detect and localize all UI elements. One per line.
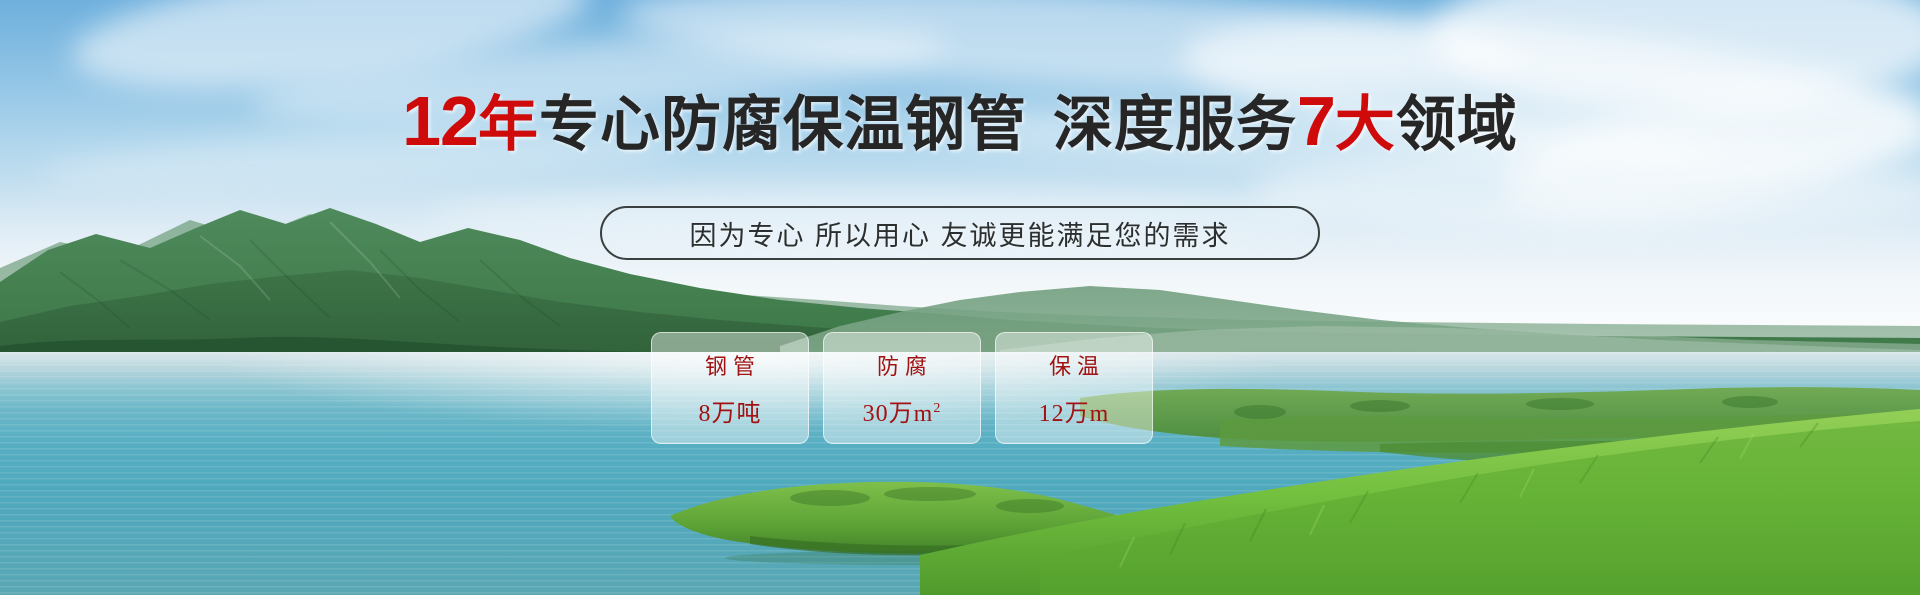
subtitle-text: 因为专心 所以用心 友诚更能满足您的需求 bbox=[689, 214, 1230, 253]
hero-banner: 12年专心防腐保温钢管深度服务7大领域 因为专心 所以用心 友诚更能满足您的需求… bbox=[0, 0, 1920, 595]
headline-part-five: 领域 bbox=[1396, 91, 1518, 158]
stat-card-list: 钢管 8万吨 防腐 30万m2 保温 12万m bbox=[651, 332, 1153, 444]
stat-card-value: 12万m bbox=[1039, 393, 1110, 428]
page-title: 12年专心防腐保温钢管深度服务7大领域 bbox=[0, 86, 1920, 156]
banner-content: 12年专心防腐保温钢管深度服务7大领域 因为专心 所以用心 友诚更能满足您的需求… bbox=[0, 0, 1920, 595]
stat-card-value-text: 8万吨 bbox=[699, 401, 762, 427]
stat-card-value-text: 30万m bbox=[863, 401, 934, 427]
headline-years-number: 12 bbox=[402, 82, 478, 160]
stat-card-title: 钢管 bbox=[699, 349, 761, 381]
headline-part-two: 专心防腐保温钢管 bbox=[539, 91, 1027, 158]
stat-card-steel-pipe[interactable]: 钢管 8万吨 bbox=[651, 332, 809, 444]
stat-card-value-text: 12万m bbox=[1039, 401, 1110, 427]
subtitle-pill: 因为专心 所以用心 友诚更能满足您的需求 bbox=[600, 206, 1320, 260]
stat-card-anticorrosion[interactable]: 防腐 30万m2 bbox=[823, 332, 981, 444]
headline-fields-unit: 大 bbox=[1335, 91, 1396, 158]
stat-card-value: 30万m2 bbox=[863, 393, 942, 428]
headline-part-three: 深度服务 bbox=[1053, 91, 1297, 158]
stat-card-title: 防腐 bbox=[871, 349, 933, 381]
stat-card-title: 保温 bbox=[1043, 349, 1105, 381]
headline-fields-number: 7 bbox=[1297, 82, 1335, 160]
stat-card-value: 8万吨 bbox=[699, 393, 762, 428]
stat-card-value-exponent: 2 bbox=[933, 401, 941, 416]
stat-card-insulation[interactable]: 保温 12万m bbox=[995, 332, 1153, 444]
headline-years-unit: 年 bbox=[478, 91, 539, 158]
